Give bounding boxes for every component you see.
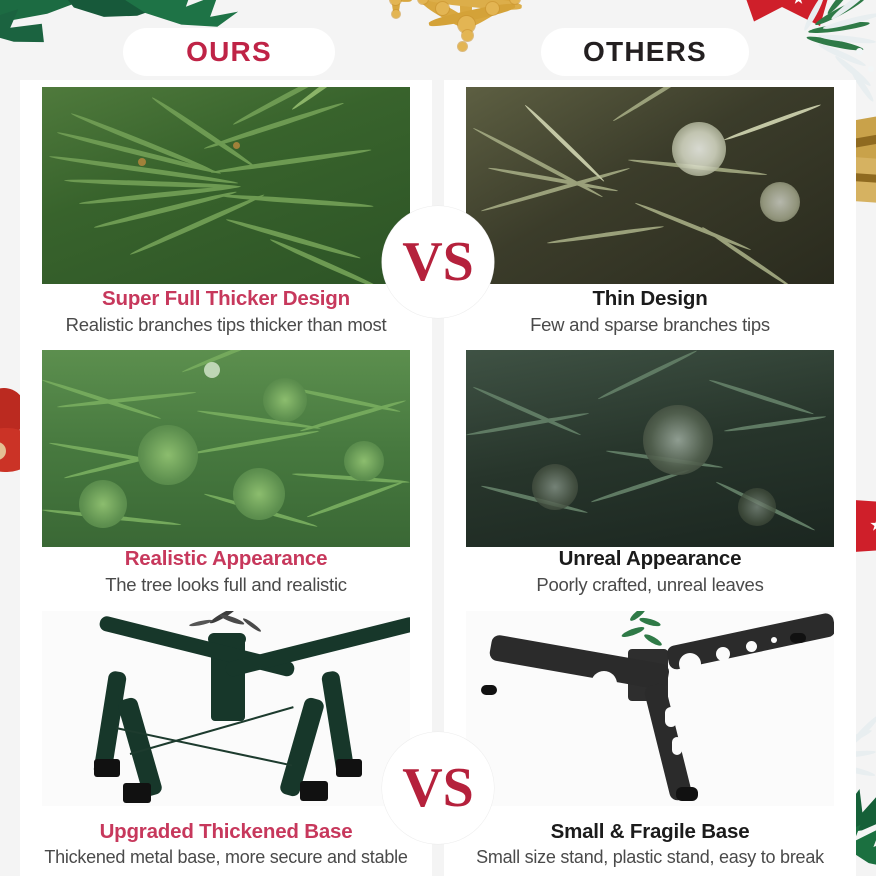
caption-others-branch-design: Thin Design Few and sparse branches tips: [444, 286, 856, 337]
caption-ours-branch-design: Super Full Thicker Design Realistic bran…: [20, 286, 432, 337]
vs-badge-appearance: VS: [382, 732, 494, 844]
photo-ours-base-stand: [42, 611, 410, 806]
caption-subtitle-ours-base-stand: Thickened metal base, more secure and st…: [20, 845, 432, 870]
caption-title-ours-base-stand: Upgraded Thickened Base: [20, 819, 432, 845]
caption-ours-appearance: Realistic Appearance The tree looks full…: [20, 546, 432, 597]
card-others-branch-design: Thin Design Few and sparse branches tips: [444, 80, 856, 343]
caption-subtitle-ours-branch-design: Realistic branches tips thicker than mos…: [20, 312, 432, 337]
caption-subtitle-ours-appearance: The tree looks full and realistic: [20, 572, 432, 597]
caption-subtitle-others-appearance: Poorly crafted, unreal leaves: [444, 572, 856, 597]
header-row: OURS OTHERS: [0, 0, 876, 80]
comparison-row-appearance: Realistic Appearance The tree looks full…: [0, 343, 876, 603]
photo-ours-appearance: [42, 350, 410, 547]
caption-title-others-base-stand: Small & Fragile Base: [444, 819, 856, 845]
card-ours-branch-design: Super Full Thicker Design Realistic bran…: [20, 80, 432, 343]
vs-badge-label-1: VS: [402, 230, 474, 294]
card-ours-base-stand: Upgraded Thickened Base Thickened metal …: [20, 603, 432, 876]
photo-others-base-stand: [466, 611, 834, 806]
caption-others-appearance: Unreal Appearance Poorly crafted, unreal…: [444, 546, 856, 597]
card-ours-appearance: Realistic Appearance The tree looks full…: [20, 343, 432, 603]
caption-title-ours-appearance: Realistic Appearance: [20, 546, 432, 572]
photo-others-branch-design: [466, 87, 834, 284]
caption-subtitle-others-branch-design: Few and sparse branches tips: [444, 312, 856, 337]
header-pill-ours: OURS: [123, 28, 335, 76]
vs-badge-label-2: VS: [402, 756, 474, 820]
caption-ours-base-stand: Upgraded Thickened Base Thickened metal …: [20, 819, 432, 870]
caption-title-others-appearance: Unreal Appearance: [444, 546, 856, 572]
photo-ours-branch-design: [42, 87, 410, 284]
comparison-infographic: OURS OTHERS: [0, 0, 876, 876]
comparison-row-branch-design: Super Full Thicker Design Realistic bran…: [0, 80, 876, 343]
header-label-ours: OURS: [186, 36, 272, 68]
photo-others-appearance: [466, 350, 834, 547]
card-others-base-stand: Small & Fragile Base Small size stand, p…: [444, 603, 856, 876]
card-others-appearance: Unreal Appearance Poorly crafted, unreal…: [444, 343, 856, 603]
caption-title-ours-branch-design: Super Full Thicker Design: [20, 286, 432, 312]
header-pill-others: OTHERS: [541, 28, 749, 76]
caption-subtitle-others-base-stand: Small size stand, plastic stand, easy to…: [444, 845, 856, 870]
vs-badge-branch-design: VS: [382, 206, 494, 318]
caption-others-base-stand: Small & Fragile Base Small size stand, p…: [444, 819, 856, 870]
caption-title-others-branch-design: Thin Design: [444, 286, 856, 312]
header-label-others: OTHERS: [583, 36, 707, 68]
